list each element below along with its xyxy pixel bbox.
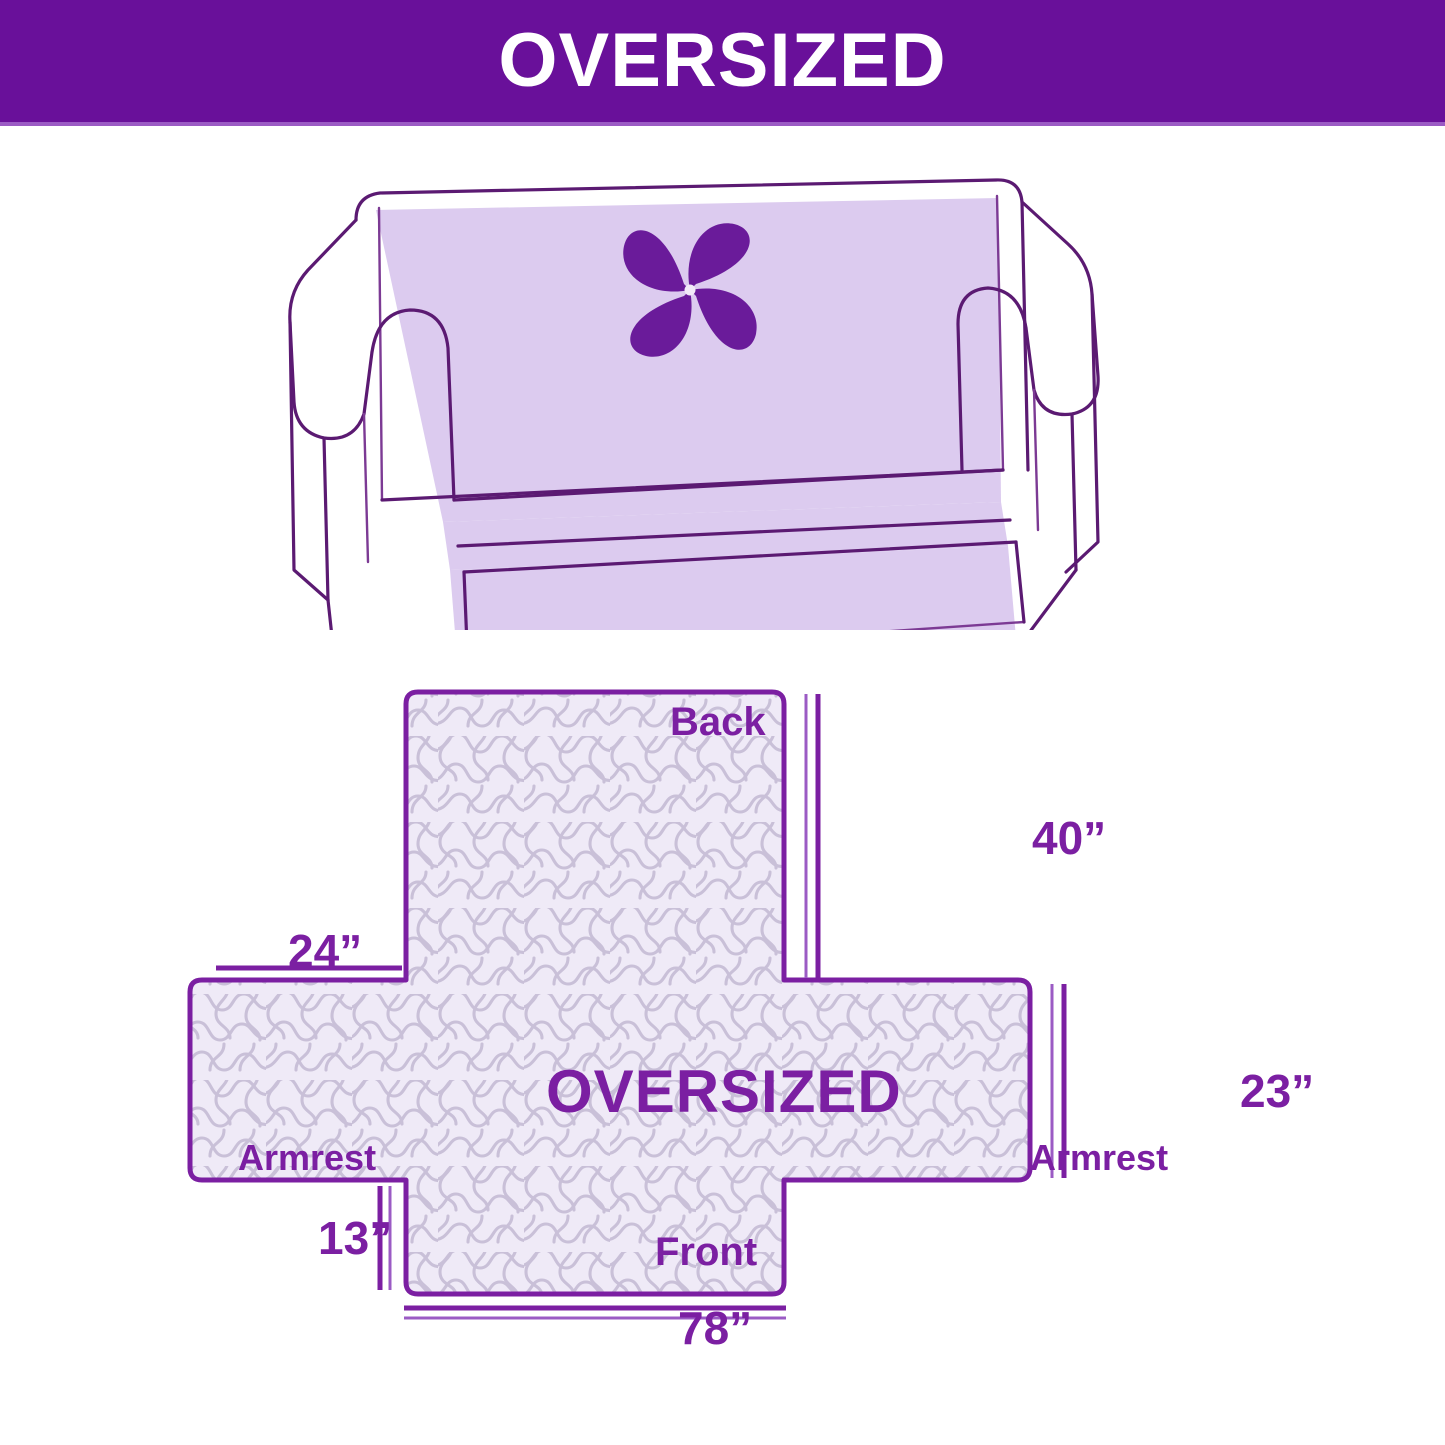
panel-label-armrest-left: Armrest [238,1140,376,1176]
sofa-right-arm-roll [1022,202,1098,415]
dimension-line-back-height [806,694,818,978]
sofa-right-arm-front-edge [1072,414,1076,570]
panel-label-back: Back [670,702,766,742]
sofa-back-seam-left [379,208,382,500]
product-size-chart: OVERSIZED .ln { fill:none; stroke:#5B1A7… [0,0,1445,1445]
dimension-label-armrest-height: 23” [1240,1068,1314,1114]
panel-label-front: Front [655,1232,757,1272]
sofa-left-arm-seam [364,414,368,562]
dimension-label-armrest-width: 24” [288,928,362,974]
dimension-label-front-height: 13” [318,1215,392,1261]
sofa-drawing-svg: .ln { fill:none; stroke:#5B1A72; stroke-… [268,170,1188,630]
sofa-left-arm-side [290,322,328,600]
dimension-label-back-height: 40” [1032,815,1106,861]
sofa-left-arm-front-edge [324,438,328,600]
sofa-left-arm-roll [290,220,372,439]
header-banner: OVERSIZED [0,0,1445,122]
dimension-label-total-width: 78” [678,1305,752,1351]
sofa-right-arm-seam [1034,390,1038,530]
pattern-center-label: OVERSIZED [546,1062,902,1122]
banner-title: OVERSIZED [498,23,946,99]
panel-label-armrest-right: Armrest [1030,1140,1168,1176]
sofa-right-arm-side [1066,294,1098,572]
banner-underline [0,122,1445,126]
sofa-base-right-edge [1016,542,1024,622]
sofa-illustration: .ln { fill:none; stroke:#5B1A72; stroke-… [268,170,1188,630]
